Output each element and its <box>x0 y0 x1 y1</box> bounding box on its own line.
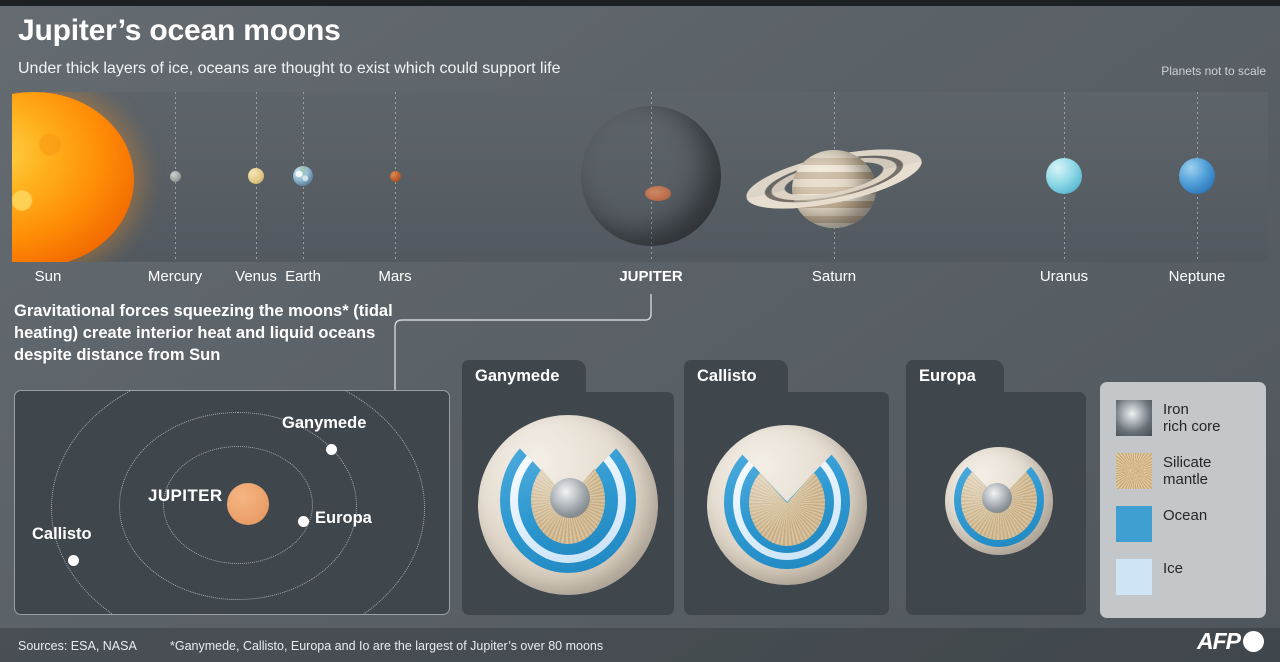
solar-system-band <box>12 92 1268 262</box>
legend: Iron rich core Silicate mantle Ocean Ice <box>1100 382 1266 618</box>
legend-item-iron-core: Iron rich core <box>1116 400 1266 436</box>
page-subtitle: Under thick layers of ice, oceans are th… <box>18 60 561 78</box>
panel-tab-ganymede: Ganymede <box>462 360 586 392</box>
venus-graphic <box>248 168 264 184</box>
planet-label-venus: Venus <box>235 268 277 285</box>
orbit-label-callisto: Callisto <box>32 525 92 544</box>
panel-body-europa <box>906 392 1086 615</box>
planet-label-sun: Sun <box>35 268 62 285</box>
panel-title-ganymede: Ganymede <box>475 367 559 386</box>
panel-title-europa: Europa <box>919 367 976 386</box>
moon-dot-callisto <box>68 555 79 566</box>
planet-label-neptune: Neptune <box>1169 268 1226 285</box>
panel-europa: Europa <box>906 360 1086 615</box>
legend-item-ocean: Ocean <box>1116 506 1266 542</box>
mars-graphic <box>390 171 401 182</box>
top-edge-bar <box>0 0 1280 6</box>
lead-paragraph: Gravitational forces squeezing the moons… <box>14 300 414 366</box>
afp-logo-text: AFP <box>1197 628 1240 655</box>
legend-label-iron-core-line1: Iron <box>1163 401 1189 418</box>
planet-label-jupiter: JUPITER <box>619 268 682 285</box>
orbit-label-ganymede: Ganymede <box>282 414 366 433</box>
afp-logo-dot-icon <box>1243 631 1264 652</box>
legend-label-silicate-mantle: Silicate mantle <box>1163 453 1211 488</box>
scale-disclaimer: Planets not to scale <box>1161 64 1266 78</box>
legend-label-ocean: Ocean <box>1163 506 1207 524</box>
orbit-label-europa: Europa <box>315 509 372 528</box>
saturn-graphic <box>739 102 929 252</box>
planet-label-earth: Earth <box>285 268 321 285</box>
jupiter-orbit-diagram: JUPITER Europa Ganymede Callisto <box>14 390 450 615</box>
panel-body-callisto <box>684 392 889 615</box>
uranus-graphic <box>1046 158 1082 194</box>
legend-swatch-ice-icon <box>1116 559 1152 595</box>
orbit-label-jupiter: JUPITER <box>148 486 223 506</box>
jupiter-center-dot <box>227 483 269 525</box>
panel-ganymede: Ganymede <box>462 360 674 615</box>
planet-label-mars: Mars <box>378 268 411 285</box>
panel-tab-europa: Europa <box>906 360 1004 392</box>
legend-label-iron-core: Iron rich core <box>1163 400 1221 435</box>
moon-dot-europa <box>298 516 309 527</box>
moon-dot-ganymede <box>326 444 337 455</box>
panel-callisto: Callisto <box>684 360 889 615</box>
legend-swatch-core-icon <box>1116 400 1152 436</box>
ganymede-iron-core <box>550 478 590 518</box>
legend-label-iron-core-line2: rich core <box>1163 418 1221 435</box>
planet-label-saturn: Saturn <box>812 268 856 285</box>
neptune-graphic <box>1179 158 1215 194</box>
legend-swatch-ocean-icon <box>1116 506 1152 542</box>
footer-note: *Ganymede, Callisto, Europa and Io are t… <box>170 639 603 653</box>
infographic-root: Jupiter’s ocean moons Under thick layers… <box>0 0 1280 662</box>
panel-tab-callisto: Callisto <box>684 360 788 392</box>
legend-swatch-mantle-icon <box>1116 453 1152 489</box>
sun-graphic <box>12 92 134 262</box>
planet-label-mercury: Mercury <box>148 268 202 285</box>
planet-label-uranus: Uranus <box>1040 268 1088 285</box>
legend-item-ice: Ice <box>1116 559 1266 595</box>
europa-iron-core <box>982 483 1012 513</box>
mercury-graphic <box>170 171 181 182</box>
legend-label-ice: Ice <box>1163 559 1183 577</box>
legend-item-silicate-mantle: Silicate mantle <box>1116 453 1266 489</box>
legend-label-mantle-line2: mantle <box>1163 471 1208 488</box>
legend-label-mantle-line1: Silicate <box>1163 454 1211 471</box>
earth-graphic <box>293 166 313 186</box>
page-title: Jupiter’s ocean moons <box>18 14 341 48</box>
jupiter-graphic <box>581 106 721 246</box>
panel-body-ganymede <box>462 392 674 615</box>
afp-logo: AFP <box>1197 628 1264 655</box>
panel-title-callisto: Callisto <box>697 367 757 386</box>
footer-sources: Sources: ESA, NASA <box>18 639 137 653</box>
